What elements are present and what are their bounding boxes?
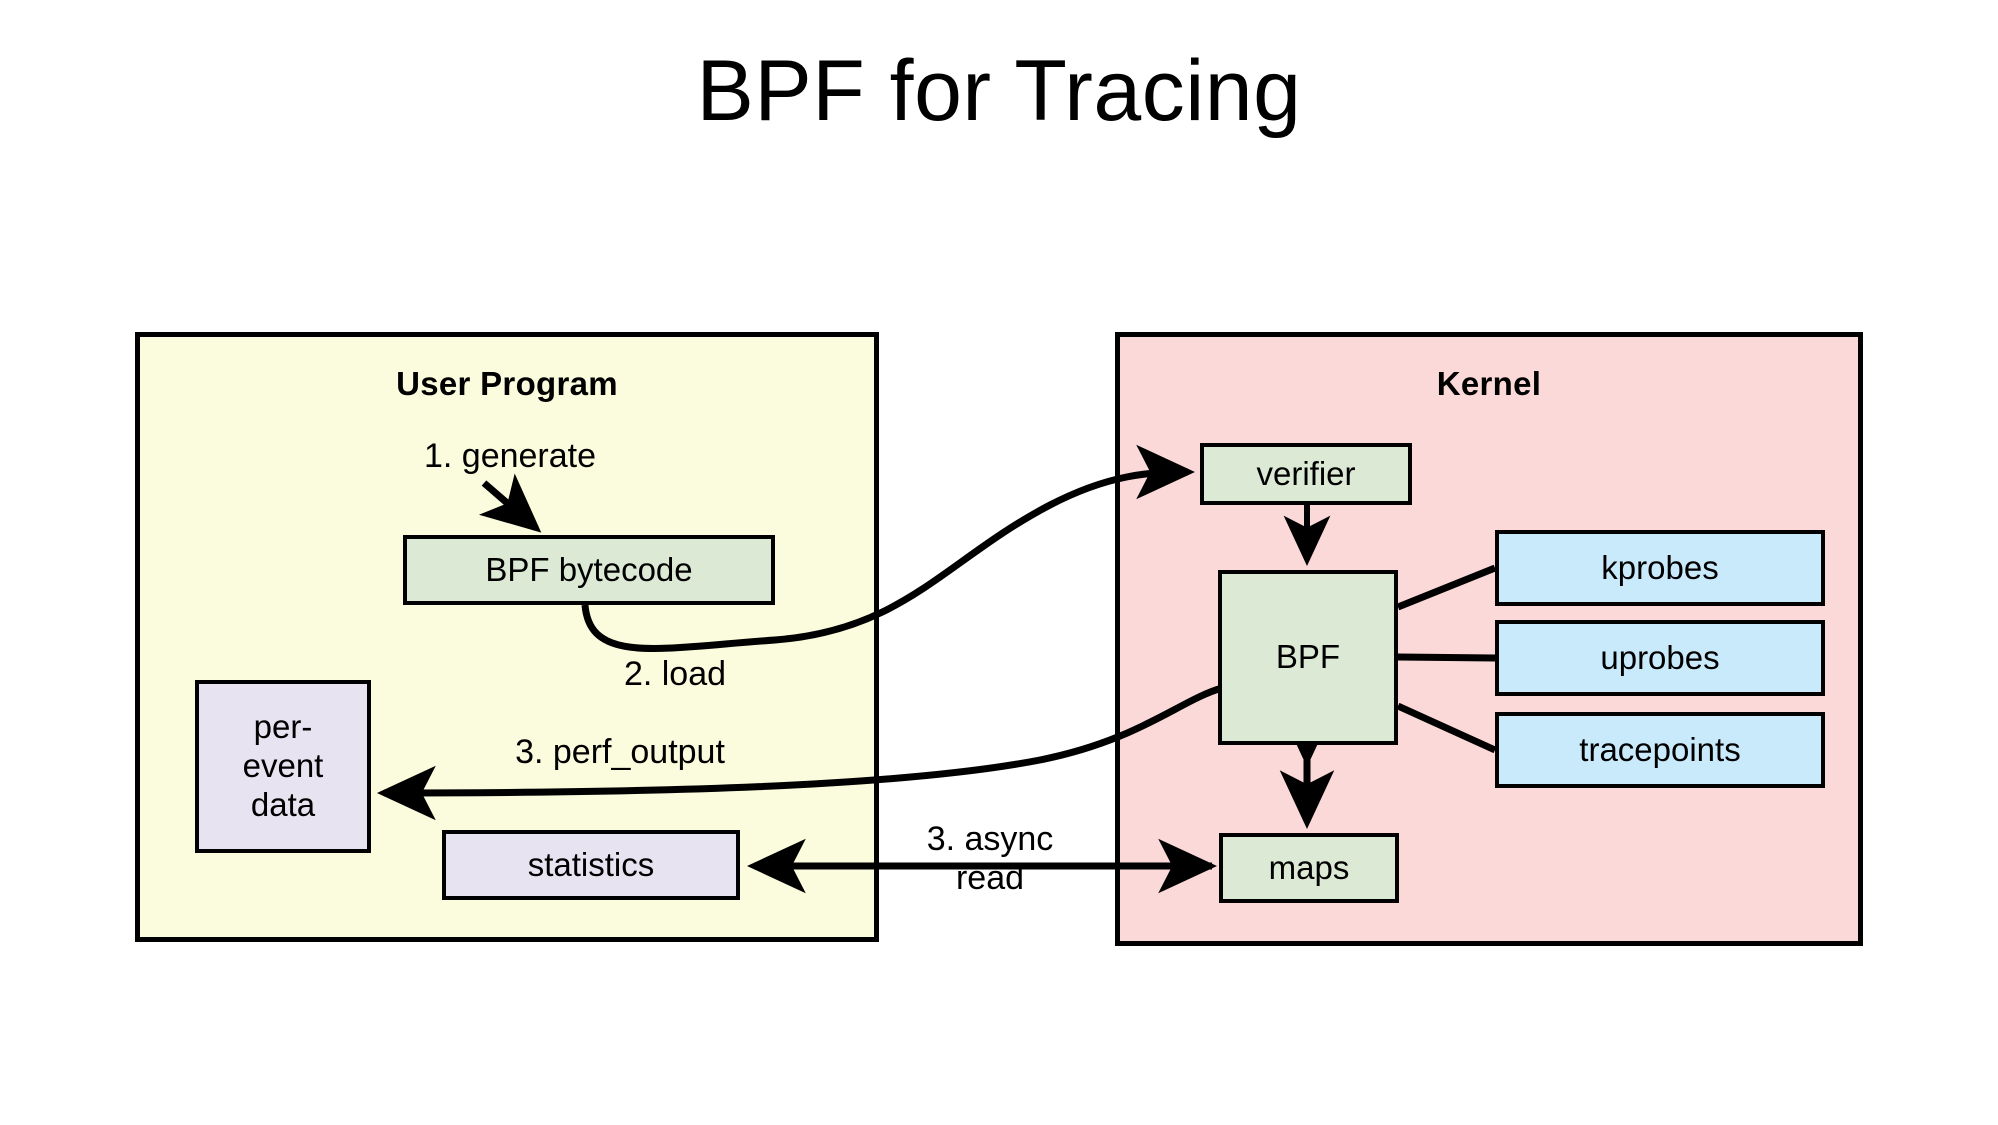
edge-label-load: 2. load <box>585 655 765 694</box>
node-tracepoints[interactable]: tracepoints <box>1495 712 1825 788</box>
node-bpf[interactable]: BPF <box>1218 570 1398 745</box>
node-per-event-data[interactable]: per- event data <box>195 680 371 853</box>
panel-kernel-title: Kernel <box>1120 365 1858 403</box>
edge-label-generate: 1. generate <box>395 437 625 476</box>
node-kprobes[interactable]: kprobes <box>1495 530 1825 606</box>
diagram-canvas: BPF for Tracing User Program Kernel <box>0 0 1998 1125</box>
edge-label-async-read: 3. async read <box>900 820 1080 899</box>
node-maps[interactable]: maps <box>1219 833 1399 903</box>
node-statistics[interactable]: statistics <box>442 830 740 900</box>
node-verifier[interactable]: verifier <box>1200 443 1412 505</box>
page-title: BPF for Tracing <box>0 48 1998 134</box>
edge-label-perf-output: 3. perf_output <box>470 733 770 772</box>
node-bpf-bytecode[interactable]: BPF bytecode <box>403 535 775 605</box>
panel-user-program-title: User Program <box>140 365 874 403</box>
node-uprobes[interactable]: uprobes <box>1495 620 1825 696</box>
